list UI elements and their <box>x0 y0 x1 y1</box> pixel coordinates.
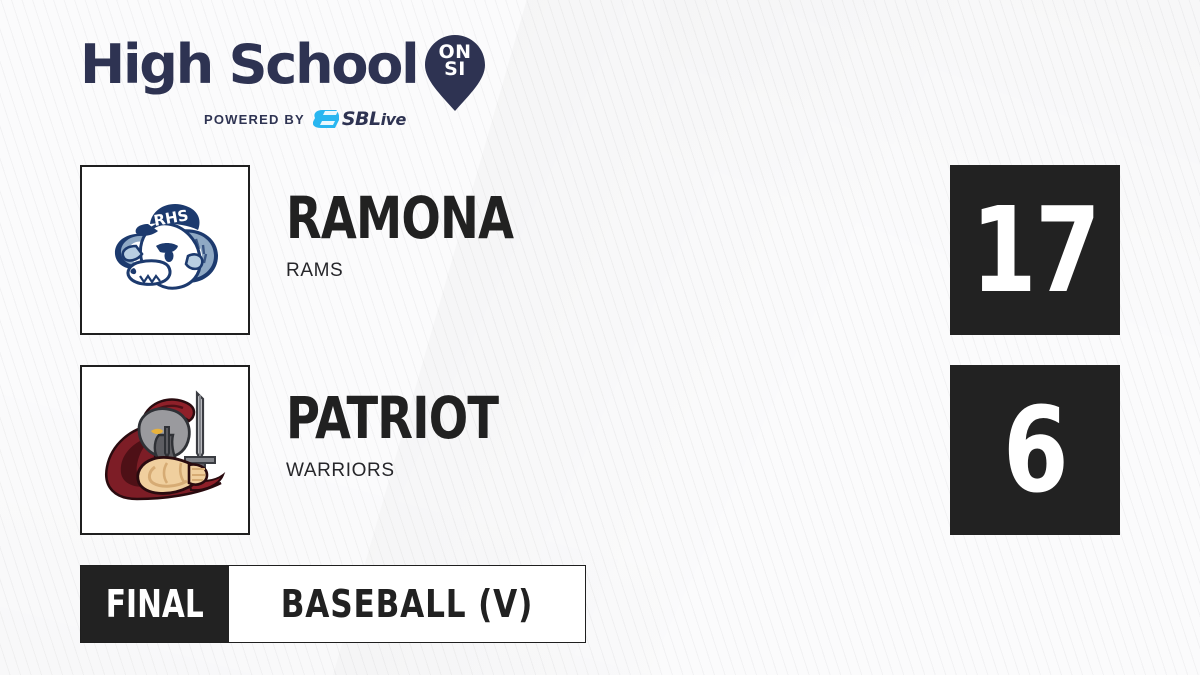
status-sport-block: BASEBALL (V) <box>229 566 585 642</box>
sblive-logo: SBLive <box>313 108 406 130</box>
game-status-bar: FINAL BASEBALL (V) <box>80 565 586 643</box>
pin-text-si: SI <box>424 61 486 78</box>
on-si-pin-icon: ON SI <box>424 34 486 112</box>
score-value: 17 <box>971 191 1099 309</box>
brand-logo-lockup[interactable]: High School ON SI POWERED BY SBLive <box>80 38 510 133</box>
sblive-swoosh-icon <box>313 109 339 129</box>
sblive-wordmark: SBLive <box>342 108 406 130</box>
spartan-warrior-logo-icon <box>97 387 233 513</box>
team-logo-box-patriot <box>80 365 250 535</box>
team-mascot: RAMS <box>286 260 570 282</box>
team-logo-box-ramona: RHS <box>80 165 250 335</box>
ram-head-logo-icon: RHS <box>100 190 230 310</box>
team-name: PATRIOT <box>286 391 498 446</box>
powered-by-label: POWERED BY <box>204 112 305 127</box>
team-name-block: PATRIOT WARRIORS <box>286 391 551 482</box>
status-sport-label: BASEBALL (V) <box>281 582 533 626</box>
status-badge-final: FINAL <box>81 566 229 642</box>
brand-wordmark: High School <box>80 38 417 92</box>
score-box-ramona: 17 <box>950 165 1120 335</box>
team-mascot: WARRIORS <box>286 460 551 482</box>
pin-badge-text: ON SI <box>424 44 486 78</box>
team-name: RAMONA <box>286 191 513 246</box>
score-box-patriot: 6 <box>950 365 1120 535</box>
team-name-block: RAMONA RAMS <box>286 191 570 282</box>
status-state-label: FINAL <box>106 582 204 626</box>
scoreboard-graphic: High School ON SI POWERED BY SBLive <box>0 0 1200 675</box>
score-value: 6 <box>1003 391 1067 509</box>
powered-by-row: POWERED BY SBLive <box>204 108 406 130</box>
